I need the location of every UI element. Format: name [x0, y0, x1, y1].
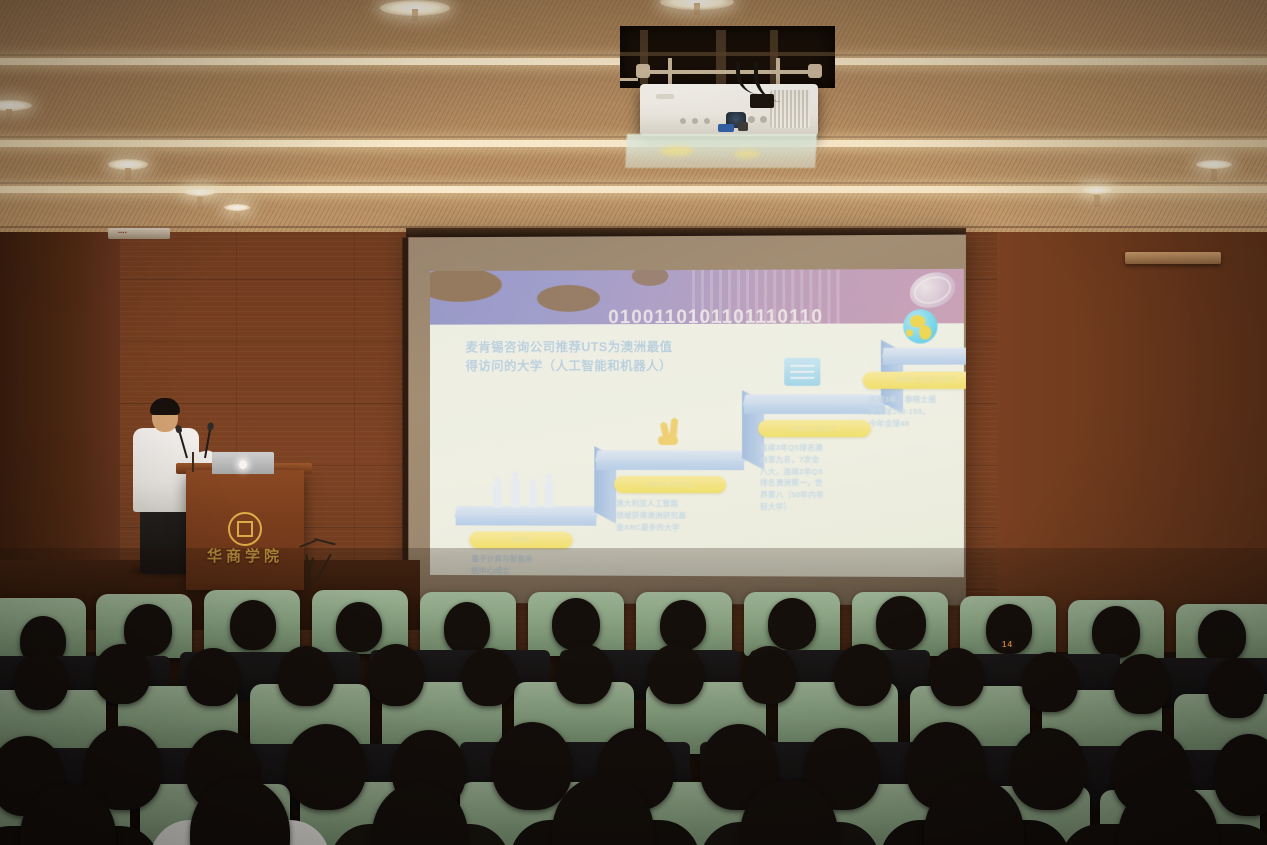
people-icon — [491, 472, 562, 508]
slide-title-line1: 麦肯锡咨询公司推荐UTS为澳洲最值 — [465, 338, 794, 357]
projector-mount-bracket — [808, 64, 822, 78]
audience-head — [556, 644, 612, 704]
audience-head — [552, 598, 600, 650]
audience-head — [14, 652, 68, 710]
audience-head — [742, 646, 796, 704]
timeline-step-4 — [883, 355, 966, 364]
audience-head — [768, 598, 816, 650]
audience-head — [1114, 654, 1170, 714]
audience-head — [648, 644, 704, 704]
audience-head — [94, 644, 150, 704]
slide-banner: 0100110101101110110 — [430, 269, 964, 327]
projector-mount-bracket — [636, 64, 650, 78]
university-logo — [228, 512, 262, 546]
audience-head — [278, 646, 334, 706]
audience-head — [186, 648, 240, 706]
audience-head — [1198, 610, 1246, 662]
timeline-step-2-badge: 2006-2010s — [614, 476, 726, 493]
projector-light-spill — [625, 134, 817, 168]
slide-content: 麦肯锡咨询公司推荐UTS为澳洲最值 得访问的大学（人工智能和机器人） 1988 … — [430, 323, 964, 577]
audience-head — [1092, 606, 1140, 658]
ceiling-downlight — [1196, 160, 1232, 169]
timeline-step-3 — [744, 404, 885, 414]
audience-head — [876, 596, 926, 650]
audience-head — [444, 602, 490, 654]
audience-head — [368, 644, 424, 706]
timeline-step-1-badge: 1988 — [469, 531, 572, 548]
audience-head — [462, 648, 516, 706]
audience-head — [286, 724, 366, 810]
projector-hook — [620, 78, 638, 81]
document-icon — [784, 358, 820, 386]
ceiling-downlight — [108, 159, 148, 170]
timeline-step-1 — [456, 515, 597, 525]
hands-icon — [656, 416, 680, 446]
wall-vent — [1125, 252, 1221, 264]
timeline-step-2 — [596, 460, 744, 470]
microphone-stand — [192, 452, 194, 472]
audience-head — [660, 600, 706, 650]
lecture-hall-photo: ▪▪▪▪ 0100110101101110110 麦肯锡咨询公司推荐UTS为澳洲… — [0, 0, 1267, 845]
timeline-step-2-caption: 澳大利亚人工智能 领域获得澳洲研究基 金ARC最多的大学 — [616, 498, 732, 534]
timeline-step-3-caption: 连续3年QS排名澳 洲第九名，7次全 八大，连续2年QS 排名澳洲第一，世 界第… — [760, 442, 871, 513]
slide-title-line2: 得访问的大学（人工智能和机器人） — [465, 357, 794, 376]
audience-head — [1208, 658, 1264, 718]
audience-head — [336, 602, 382, 652]
ceiling-downlight — [1082, 186, 1112, 194]
slide-title: 麦肯锡咨询公司推荐UTS为澳洲最值 得访问的大学（人工智能和机器人） — [465, 338, 794, 376]
audience-head — [492, 722, 572, 810]
timeline-step-4-badge: 2014-2016 2017 — [863, 372, 966, 389]
ceiling-projector — [640, 84, 818, 136]
ceiling-downlight — [224, 204, 250, 211]
audience-head — [230, 600, 276, 650]
macbook-laptop — [212, 452, 274, 474]
ceiling — [0, 0, 1267, 238]
audience-head — [930, 648, 984, 706]
audience-head — [1010, 728, 1086, 810]
projector-ceiling-recess — [620, 26, 835, 88]
timeline-step-4-caption: 连续3年，泰晤士报 列全球100-150， 今年全球48 — [869, 394, 966, 430]
seat-number: 14 — [1000, 640, 1015, 649]
projector-mount-bar — [646, 70, 812, 74]
ceiling-downlight — [184, 188, 216, 196]
wall-speaker-label: ▪▪▪▪ — [118, 230, 127, 236]
audience-head — [1022, 652, 1078, 712]
speaker-hair — [150, 398, 180, 415]
globe-icon — [903, 309, 937, 343]
audience: 13 13 14 10 19 — [0, 548, 1267, 845]
ceiling-downlight — [380, 0, 450, 16]
timeline-step-3-badge: 2012-2017 — [758, 420, 871, 437]
audience-head — [834, 644, 892, 706]
